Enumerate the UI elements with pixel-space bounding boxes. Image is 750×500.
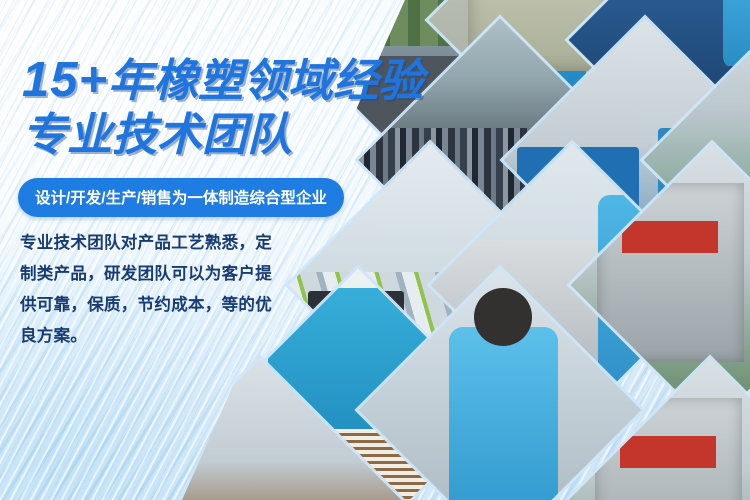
headline-line-1-rest: 年橡塑领域经验 [108, 55, 423, 106]
body-paragraph: 专业技术团队对产品工艺熟悉，定制类产品，研发团队可以为客户提供可靠，保质，节约成… [20, 228, 286, 352]
headline-line-1: 15+年橡塑领域经验 [22, 54, 462, 107]
plus-symbol: + [79, 53, 109, 107]
text-column: 15+年橡塑领域经验 专业技术团队 设计/开发/生产/销售为一体制造综合型企业 … [0, 0, 430, 500]
company-scope-badge: 设计/开发/生产/销售为一体制造综合型企业 [18, 178, 344, 217]
headline-line-2: 专业技术团队 [22, 111, 462, 160]
promo-banner: 15+年橡塑领域经验 专业技术团队 设计/开发/生产/销售为一体制造综合型企业 … [0, 0, 750, 500]
headline-block: 15+年橡塑领域经验 专业技术团队 [22, 54, 462, 160]
years-number: 15 [22, 53, 79, 107]
